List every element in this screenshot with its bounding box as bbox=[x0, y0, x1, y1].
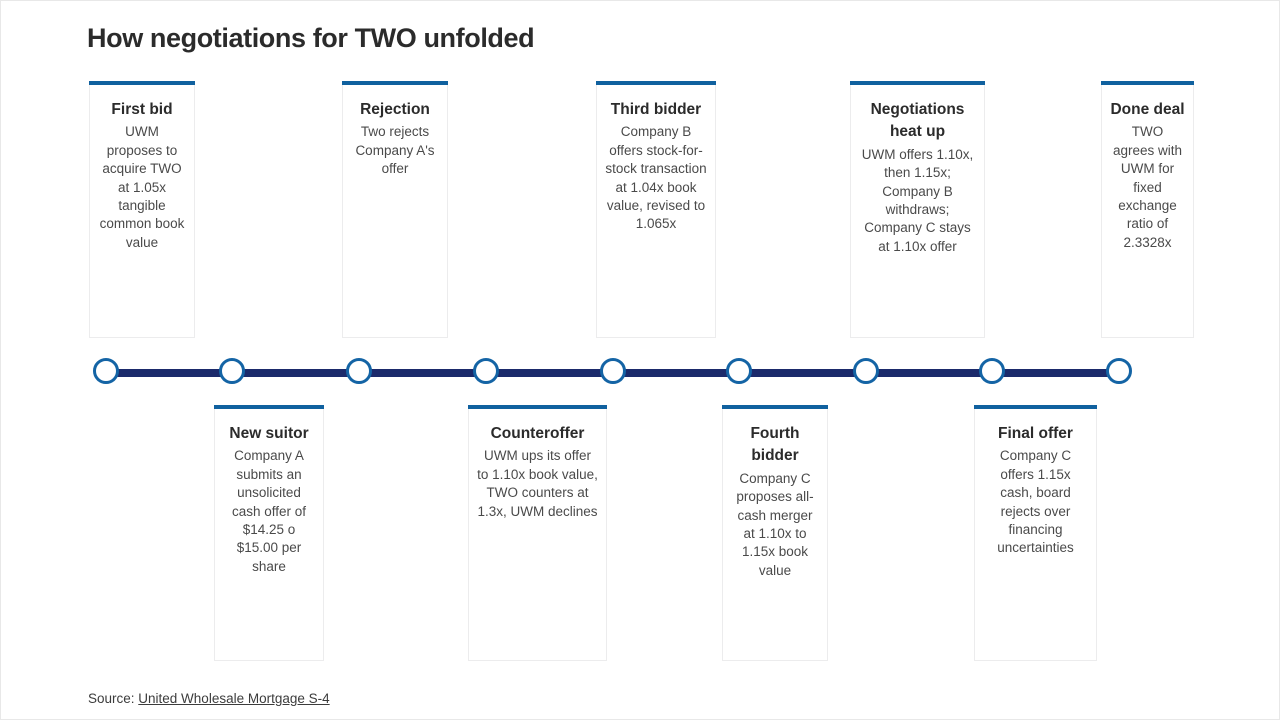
card-accent-bar bbox=[722, 405, 828, 409]
card-heading: Done deal bbox=[1110, 99, 1185, 121]
card-accent-bar bbox=[974, 405, 1097, 409]
card-body: UWM proposes to acquire TWO at 1.05x tan… bbox=[98, 123, 186, 252]
timeline-node-2[interactable] bbox=[219, 358, 245, 384]
timeline-card-done-deal: Done dealTWO agrees with UWM for fixed e… bbox=[1101, 85, 1194, 338]
timeline-card-negotiations-heat-up: Negotiations heat upUWM offers 1.10x, th… bbox=[850, 85, 985, 338]
timeline-card-fourth-bidder: Fourth bidderCompany C proposes all-cash… bbox=[722, 409, 828, 661]
timeline-card-rejection: RejectionTwo rejects Company A's offer bbox=[342, 85, 448, 338]
card-body: Company C offers 1.15x cash, board rejec… bbox=[983, 447, 1088, 557]
timeline-node-7[interactable] bbox=[853, 358, 879, 384]
card-body: UWM offers 1.10x, then 1.15x; Company B … bbox=[859, 146, 976, 256]
timeline-node-8[interactable] bbox=[979, 358, 1005, 384]
card-accent-bar bbox=[596, 81, 716, 85]
timeline-card-first-bid: First bidUWM proposes to acquire TWO at … bbox=[89, 85, 195, 338]
card-body: TWO agrees with UWM for fixed exchange r… bbox=[1110, 123, 1185, 252]
card-heading: Fourth bidder bbox=[731, 423, 819, 468]
page-title: How negotiations for TWO unfolded bbox=[87, 23, 534, 54]
timeline-node-6[interactable] bbox=[726, 358, 752, 384]
card-body: Company B offers stock-for-stock transac… bbox=[605, 123, 707, 233]
card-heading: New suitor bbox=[223, 423, 315, 445]
timeline-node-4[interactable] bbox=[473, 358, 499, 384]
card-accent-bar bbox=[214, 405, 324, 409]
source-link[interactable]: United Wholesale Mortgage S-4 bbox=[138, 691, 329, 706]
card-accent-bar bbox=[850, 81, 985, 85]
card-accent-bar bbox=[89, 81, 195, 85]
timeline-node-3[interactable] bbox=[346, 358, 372, 384]
source-label: Source: bbox=[88, 691, 138, 706]
card-accent-bar bbox=[1101, 81, 1194, 85]
card-heading: Counteroffer bbox=[477, 423, 598, 445]
timeline-card-final-offer: Final offerCompany C offers 1.15x cash, … bbox=[974, 409, 1097, 661]
card-heading: Third bidder bbox=[605, 99, 707, 121]
card-body: Company A submits an unsolicited cash of… bbox=[223, 447, 315, 576]
timeline-infographic: How negotiations for TWO unfolded First … bbox=[0, 0, 1280, 720]
card-heading: Final offer bbox=[983, 423, 1088, 445]
timeline-card-counteroffer: CounterofferUWM ups its offer to 1.10x b… bbox=[468, 409, 607, 661]
timeline-node-5[interactable] bbox=[600, 358, 626, 384]
card-heading: Negotiations heat up bbox=[859, 99, 976, 144]
timeline-card-third-bidder: Third bidderCompany B offers stock-for-s… bbox=[596, 85, 716, 338]
timeline-node-9[interactable] bbox=[1106, 358, 1132, 384]
card-accent-bar bbox=[342, 81, 448, 85]
source-line: Source: United Wholesale Mortgage S-4 bbox=[88, 691, 330, 706]
card-body: UWM ups its offer to 1.10x book value, T… bbox=[477, 447, 598, 520]
card-body: Company C proposes all-cash merger at 1.… bbox=[731, 470, 819, 580]
card-body: Two rejects Company A's offer bbox=[351, 123, 439, 178]
timeline-node-1[interactable] bbox=[93, 358, 119, 384]
card-heading: First bid bbox=[98, 99, 186, 121]
card-accent-bar bbox=[468, 405, 607, 409]
timeline-card-new-suitor: New suitorCompany A submits an unsolicit… bbox=[214, 409, 324, 661]
card-heading: Rejection bbox=[351, 99, 439, 121]
